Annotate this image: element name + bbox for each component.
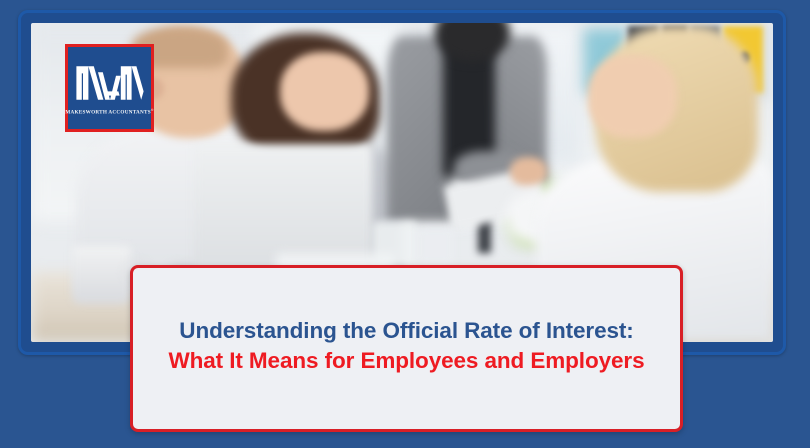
photo-person-blonde-face [588,55,677,138]
photo-person-woman-dark-face [280,52,369,132]
photo-coffee-mug [72,246,131,303]
logo-wordmark: MAKESWORTH ACCOUNTANTS® [65,108,153,116]
makesworth-accountants-logo[interactable]: MAKESWORTH ACCOUNTANTS® [65,44,154,132]
article-header-banner: MAKESWORTH ACCOUNTANTS® Understanding th… [0,0,810,448]
article-title-card: Understanding the Official Rate of Inter… [130,265,683,432]
photo-glass-two [417,227,454,265]
photo-glass-one [372,221,417,266]
mw-monogram-icon [74,60,146,106]
logo-trademark: ® [151,108,154,112]
article-title-line-1: Understanding the Official Rate of Inter… [133,316,680,346]
photo-person-standing-hand [510,157,547,186]
article-title-line-2: What It Means for Employees and Employer… [133,346,680,376]
